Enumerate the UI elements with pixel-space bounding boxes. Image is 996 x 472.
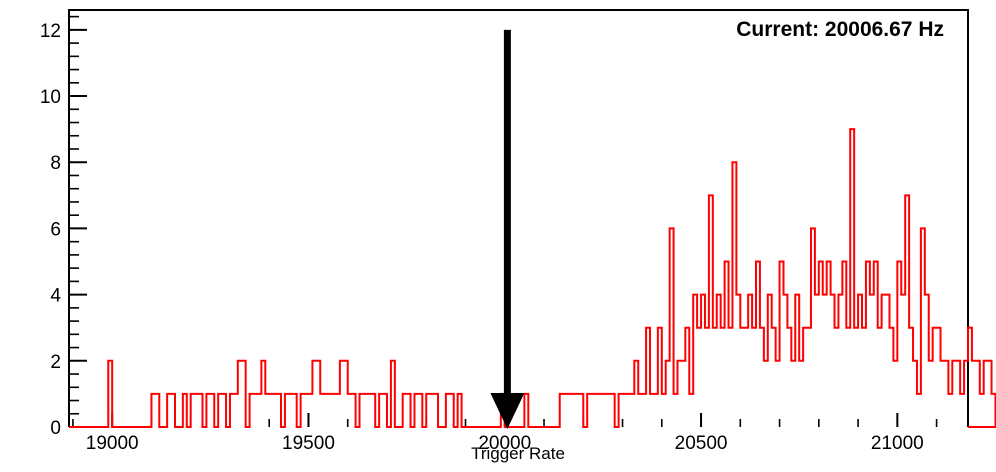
x-tick-label: 19500: [282, 433, 335, 454]
y-axis-ticks: [69, 17, 87, 427]
y-axis-labels: 024681012: [40, 21, 62, 439]
axis-frame: [69, 10, 968, 427]
y-tick-label: 4: [50, 286, 61, 307]
y-tick-label: 2: [50, 352, 61, 373]
y-tick-label: 8: [50, 153, 61, 174]
current-rate-arrow[interactable]: [490, 30, 524, 429]
x-tick-label: 19000: [86, 433, 139, 454]
current-rate-label: Current: 20006.67 Hz: [736, 18, 944, 41]
y-tick-label: 0: [50, 418, 61, 439]
histogram-series[interactable]: [69, 129, 996, 427]
histogram-plot[interactable]: 024681012 1900019500200002050021000 Trig…: [0, 0, 996, 472]
root-canvas: 024681012 1900019500200002050021000 Trig…: [0, 0, 996, 472]
y-tick-label: 6: [50, 219, 61, 240]
x-tick-label: 20500: [675, 433, 728, 454]
x-axis-title: Trigger Rate: [471, 444, 565, 463]
plot-frame: [69, 10, 968, 427]
x-tick-label: 21000: [871, 433, 924, 454]
y-tick-label: 12: [40, 21, 61, 42]
arrow-head-triangle: [490, 393, 524, 429]
y-tick-label: 10: [40, 87, 61, 108]
